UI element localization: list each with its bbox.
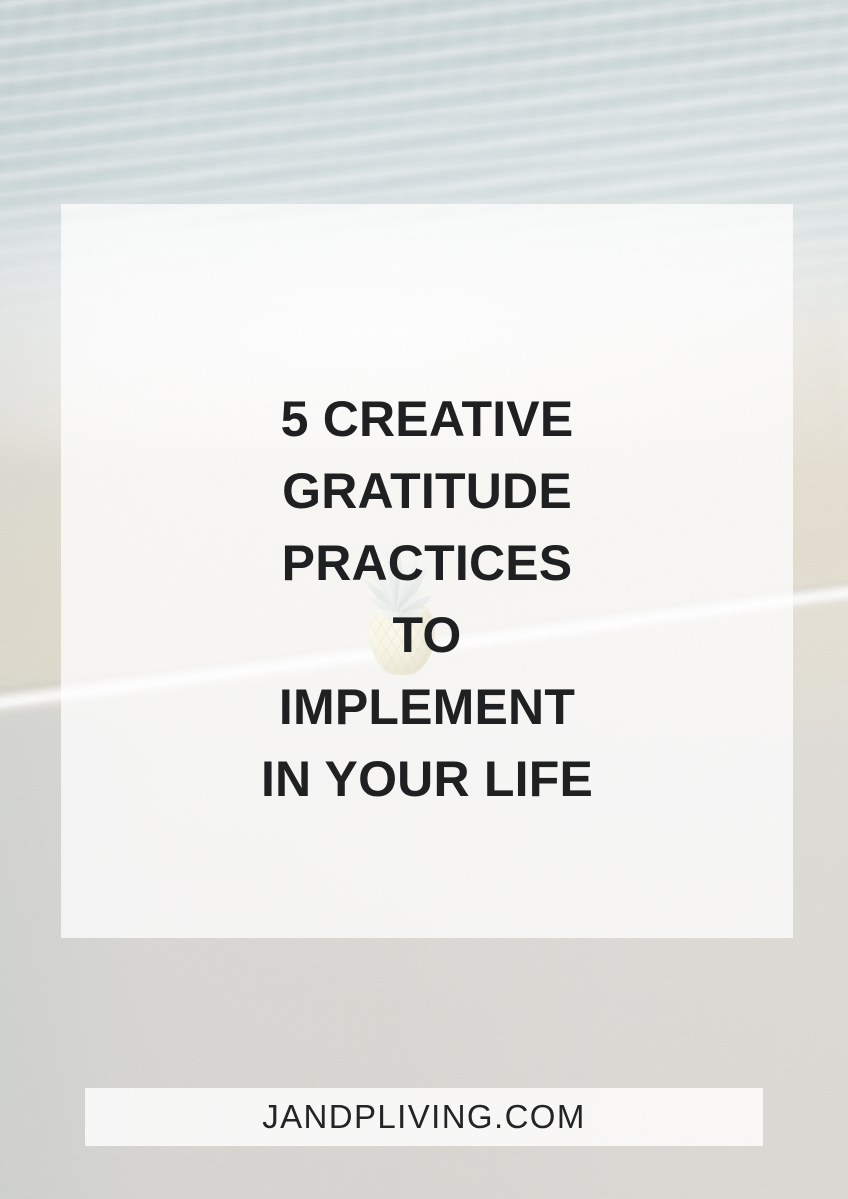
headline-line-5: IMPLEMENT — [279, 671, 575, 743]
headline-line-1: 5 CREATIVE — [281, 383, 574, 455]
url-banner: JANDPLIVING.COM — [85, 1088, 763, 1146]
headline-line-2: GRATITUDE — [282, 455, 572, 527]
pin-graphic: 5 CREATIVE GRATITUDE PRACTICES TO IMPLEM… — [0, 0, 848, 1199]
website-url[interactable]: JANDPLIVING.COM — [262, 1098, 586, 1136]
headline-line-4: TO — [393, 599, 462, 671]
headline-block: 5 CREATIVE GRATITUDE PRACTICES TO IMPLEM… — [61, 204, 793, 938]
headline-line-6: IN YOUR LIFE — [261, 743, 593, 815]
headline-line-3: PRACTICES — [282, 527, 573, 599]
